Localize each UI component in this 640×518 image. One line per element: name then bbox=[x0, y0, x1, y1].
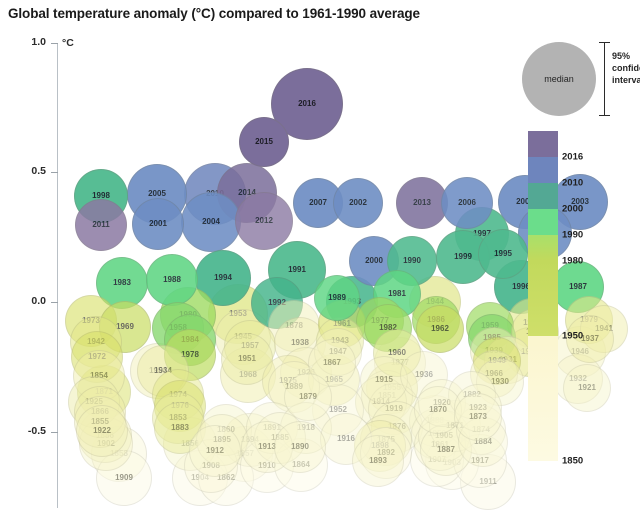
bubble-layer: 2016201020052014200419532012199120031994… bbox=[0, 30, 520, 518]
color-scale-label-2016: 2016 bbox=[562, 152, 583, 163]
confidence-interval-label: 95% confidence interval bbox=[612, 50, 640, 86]
bubble-year-label: 1999 bbox=[454, 253, 472, 261]
bubble-1922[interactable]: 1922 bbox=[76, 405, 128, 457]
bubble-year-label: 1887 bbox=[437, 446, 455, 454]
bubble-year-label: 1916 bbox=[337, 435, 355, 443]
bubble-1989[interactable]: 1989 bbox=[314, 275, 360, 321]
median-legend-label: median bbox=[544, 74, 574, 84]
bubble-year-label: 1883 bbox=[171, 424, 189, 432]
color-scale-label-2000: 2000 bbox=[562, 204, 583, 215]
size-legend: median 95% confidence interval bbox=[512, 36, 640, 132]
bubble-2015[interactable]: 2015 bbox=[239, 117, 289, 167]
bubble-2002[interactable]: 2002 bbox=[333, 178, 383, 228]
bubble-2001[interactable]: 2001 bbox=[132, 198, 184, 250]
bubble-year-label: 2005 bbox=[148, 190, 166, 198]
color-scale-label-1980: 1980 bbox=[562, 256, 583, 267]
bubble-1893[interactable]: 1893 bbox=[352, 435, 404, 487]
color-scale-label-1950: 1950 bbox=[562, 331, 583, 342]
bubble-year-label: 1989 bbox=[328, 294, 346, 302]
color-scale-segment-2010 bbox=[528, 157, 558, 183]
bubble-year-label: 1867 bbox=[323, 359, 341, 367]
bubble-year-label: 2016 bbox=[298, 100, 316, 108]
bubble-year-label: 1981 bbox=[388, 290, 406, 298]
color-scale-segment-1990 bbox=[528, 209, 558, 235]
bubble-year-label: 1987 bbox=[569, 283, 587, 291]
bubble-year-label: 1990 bbox=[403, 257, 421, 265]
median-legend-circle: median bbox=[522, 42, 596, 116]
bubble-year-label: 1890 bbox=[291, 443, 309, 451]
bubble-2011[interactable]: 2011 bbox=[75, 199, 127, 251]
bubble-1890[interactable]: 1890 bbox=[274, 421, 326, 473]
bubble-year-label: 2013 bbox=[413, 199, 431, 207]
color-scale-legend: 2016201020001990198019501850 bbox=[528, 131, 558, 461]
bubble-year-label: 1937 bbox=[581, 335, 599, 343]
bubble-2012[interactable]: 2012 bbox=[235, 192, 293, 250]
color-scale-label-1990: 1990 bbox=[562, 230, 583, 241]
chart-page: Global temperature anomaly (°C) compared… bbox=[0, 0, 640, 518]
bubble-year-label: 2007 bbox=[309, 199, 327, 207]
bubble-year-label: 1983 bbox=[113, 279, 131, 287]
bubble-year-label: 1912 bbox=[206, 447, 224, 455]
bubble-year-label: 1994 bbox=[214, 274, 232, 282]
bubble-1879[interactable]: 1879 bbox=[284, 373, 332, 421]
color-scale-label-1850: 1850 bbox=[562, 456, 583, 467]
bubble-year-label: 1921 bbox=[578, 384, 596, 392]
bubble-year-label: 1909 bbox=[115, 474, 133, 482]
bubble-1873[interactable]: 1873 bbox=[454, 393, 502, 441]
bubble-year-label: 1936 bbox=[415, 371, 433, 379]
bubble-year-label: 1938 bbox=[291, 339, 309, 347]
bubble-1962[interactable]: 1962 bbox=[416, 305, 464, 353]
bubble-year-label: 2006 bbox=[458, 199, 476, 207]
bubble-year-label: 1960 bbox=[388, 349, 406, 357]
bubble-year-label: 1873 bbox=[469, 413, 487, 421]
bubble-year-label: 2011 bbox=[92, 221, 109, 229]
bubble-year-label: 2012 bbox=[255, 217, 273, 225]
bubble-year-label: 1995 bbox=[494, 250, 512, 258]
bubble-year-label: 2002 bbox=[349, 199, 367, 207]
bubble-year-label: 2015 bbox=[255, 138, 273, 146]
bubble-1912[interactable]: 1912 bbox=[189, 425, 241, 477]
bubble-year-label: 1915 bbox=[375, 376, 393, 384]
color-scale-segment-1980 bbox=[528, 235, 558, 261]
bubble-1988[interactable]: 1988 bbox=[146, 254, 198, 306]
bubble-year-label: 1922 bbox=[93, 427, 111, 435]
color-scale-segment-2016 bbox=[528, 131, 558, 157]
confidence-interval-bar bbox=[604, 42, 605, 116]
bubble-year-label: 1893 bbox=[369, 457, 387, 465]
bubble-year-label: 1991 bbox=[288, 266, 306, 274]
bubble-2004[interactable]: 2004 bbox=[181, 192, 241, 252]
color-scale-label-2010: 2010 bbox=[562, 178, 583, 189]
color-scale-segment-1850 bbox=[528, 336, 558, 461]
bubble-year-label: 1951 bbox=[238, 355, 256, 363]
bubble-year-label: 1870 bbox=[429, 406, 447, 414]
plot-area: 1.00.50.0-0.5 °C 20162010200520142004195… bbox=[0, 30, 520, 518]
color-scale-segment-1950 bbox=[528, 261, 558, 336]
bubble-1995[interactable]: 1995 bbox=[478, 229, 528, 279]
page-title: Global temperature anomaly (°C) compared… bbox=[8, 6, 420, 21]
bubble-year-label: 2001 bbox=[149, 220, 167, 228]
bubble-year-label: 1879 bbox=[299, 393, 317, 401]
bubble-1921[interactable]: 1921 bbox=[563, 364, 611, 412]
bubble-year-label: 2000 bbox=[365, 257, 383, 265]
color-scale-segment-2000 bbox=[528, 183, 558, 209]
bubble-year-label: 1962 bbox=[431, 325, 449, 333]
bubble-year-label: 1988 bbox=[163, 276, 181, 284]
bubble-year-label: 2004 bbox=[202, 218, 220, 226]
bubble-2006[interactable]: 2006 bbox=[441, 177, 493, 229]
